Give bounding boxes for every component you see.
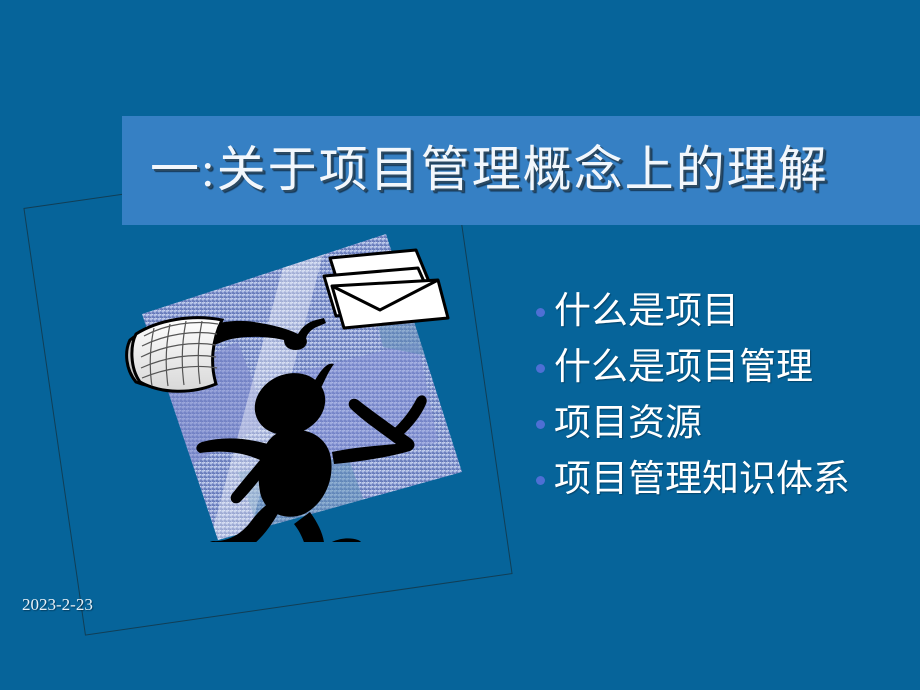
- slide-title-band: 一:关于项目管理概念上的理解: [122, 116, 920, 225]
- list-item-label: 项目管理知识体系: [554, 459, 850, 500]
- list-item-label: 什么是项目: [554, 291, 739, 332]
- list-item-label: 什么是项目管理: [554, 347, 813, 388]
- presentation-slide: 一:关于项目管理概念上的理解 什么是项目 什么是项目管理 项目资源 项目管理知识…: [0, 0, 920, 690]
- slide-bullet-list: 什么是项目 什么是项目管理 项目资源 项目管理知识体系: [534, 284, 920, 508]
- envelopes-shape: [324, 250, 448, 328]
- bullet-dot-icon: [536, 364, 545, 373]
- list-item: 什么是项目管理: [534, 340, 920, 396]
- list-item: 项目管理知识体系: [534, 452, 920, 508]
- clipart-image: [118, 222, 478, 542]
- bullet-dot-icon: [536, 420, 545, 429]
- keyboard-shape: [127, 318, 222, 392]
- list-item: 什么是项目: [534, 284, 920, 340]
- slide-date: 2023-2-23: [22, 595, 93, 615]
- bullet-dot-icon: [536, 308, 545, 317]
- slide-title: 一:关于项目管理概念上的理解: [150, 124, 829, 216]
- list-item: 项目资源: [534, 396, 920, 452]
- bullet-dot-icon: [536, 476, 545, 485]
- list-item-label: 项目资源: [554, 403, 702, 444]
